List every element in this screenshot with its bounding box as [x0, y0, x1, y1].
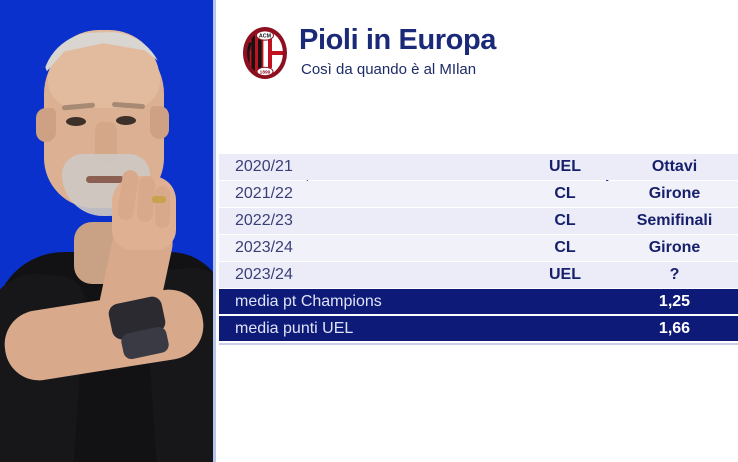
summary-label: media pt Champions: [219, 293, 505, 311]
cell-stagione: 2020/21: [219, 158, 505, 176]
summary-row-champions: media pt Champions 1,25: [219, 289, 738, 314]
cell-stagione: 2022/23: [219, 212, 505, 230]
summary-value: 1,25: [625, 293, 738, 311]
table-row: 2023/24 CL Girone: [219, 235, 738, 261]
ring-shape: [152, 196, 166, 203]
crest-text: ACM: [259, 34, 272, 40]
cell-competiz: CL: [505, 212, 625, 230]
mouth-shape: [86, 176, 124, 183]
finger-shape: [155, 186, 170, 228]
stats-table: stagione competiz. livello 2020/21 UEL O…: [219, 126, 738, 345]
table-row: 2023/24 UEL ?: [219, 262, 738, 288]
header: ACM 1899 Pioli in Europa Così da quando …: [219, 18, 738, 104]
infographic-root: ACM 1899 Pioli in Europa Così da quando …: [0, 0, 738, 462]
crest-year: 1899: [260, 69, 271, 75]
cell-competiz: CL: [505, 239, 625, 257]
table-row: 2022/23 CL Semifinali: [219, 208, 738, 234]
cell-livello: Girone: [625, 239, 738, 257]
table-row: 2020/21 UEL Ottavi: [219, 154, 738, 180]
portrait-panel: [0, 0, 216, 462]
cell-competiz: CL: [505, 185, 625, 203]
page-subtitle: Così da quando è al MIlan: [301, 59, 496, 80]
right-eye-shape: [116, 116, 136, 125]
summary-value: 1,66: [625, 320, 738, 338]
coach-portrait-image: [0, 0, 216, 462]
cell-livello: Ottavi: [625, 158, 738, 176]
left-ear-shape: [36, 108, 56, 142]
table-row: 2021/22 CL Girone: [219, 181, 738, 207]
table-bottom-rule: [219, 343, 738, 345]
left-eye-shape: [66, 117, 86, 126]
cell-stagione: 2023/24: [219, 266, 505, 284]
cell-livello: Girone: [625, 185, 738, 203]
summary-label: media punti UEL: [219, 320, 505, 338]
summary-row-uel: media punti UEL 1,66: [219, 316, 738, 341]
content-panel: ACM 1899 Pioli in Europa Così da quando …: [219, 0, 738, 462]
right-ear-shape: [150, 106, 169, 139]
cell-livello: ?: [625, 266, 738, 284]
ac-milan-crest-icon: ACM 1899: [241, 26, 289, 80]
cell-competiz: UEL: [505, 266, 625, 284]
title-block: Pioli in Europa Così da quando è al MIla…: [299, 24, 496, 80]
cell-stagione: 2021/22: [219, 185, 505, 203]
cell-competiz: UEL: [505, 158, 625, 176]
page-title: Pioli in Europa: [299, 24, 496, 57]
cell-livello: Semifinali: [625, 212, 738, 230]
cell-stagione: 2023/24: [219, 239, 505, 257]
